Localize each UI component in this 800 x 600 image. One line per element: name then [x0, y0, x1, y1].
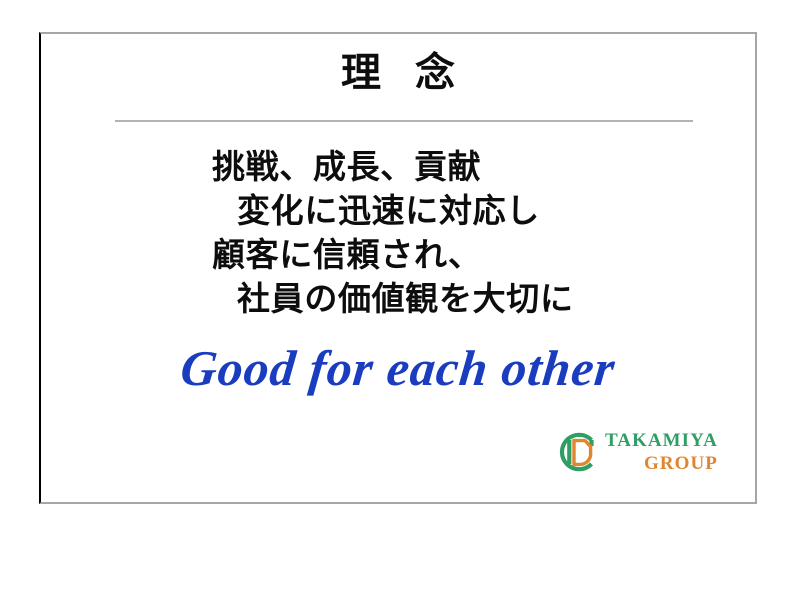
- body-line: 顧客に信頼され、: [41, 234, 755, 278]
- takamiya-circle-d-mark-icon: [556, 431, 598, 473]
- logo-company-name: TAKAMIYA: [605, 431, 718, 450]
- tagline-text: Good for each other: [178, 339, 618, 397]
- logo-group-label: GROUP: [605, 454, 718, 473]
- body-line: 変化に迅速に対応し: [41, 190, 755, 234]
- takamiya-group-logo: TAKAMIYA GROUP: [556, 424, 734, 480]
- body-line: 挑戦、成長、貢献: [41, 146, 755, 190]
- body-text-block: 挑戦、成長、貢献 変化に迅速に対応し 顧客に信頼され、 社員の価値観を大切に: [41, 146, 755, 322]
- body-line: 社員の価値観を大切に: [41, 278, 755, 322]
- tagline-block: Good for each other: [41, 339, 755, 397]
- title-divider: [115, 120, 693, 122]
- logo-wordmark: TAKAMIYA GROUP: [605, 431, 718, 473]
- slide-frame: 理 念 挑戦、成長、貢献 変化に迅速に対応し 顧客に信頼され、 社員の価値観を大…: [39, 32, 757, 504]
- page-title: 理 念: [41, 52, 755, 94]
- title-block: 理 念: [41, 52, 755, 94]
